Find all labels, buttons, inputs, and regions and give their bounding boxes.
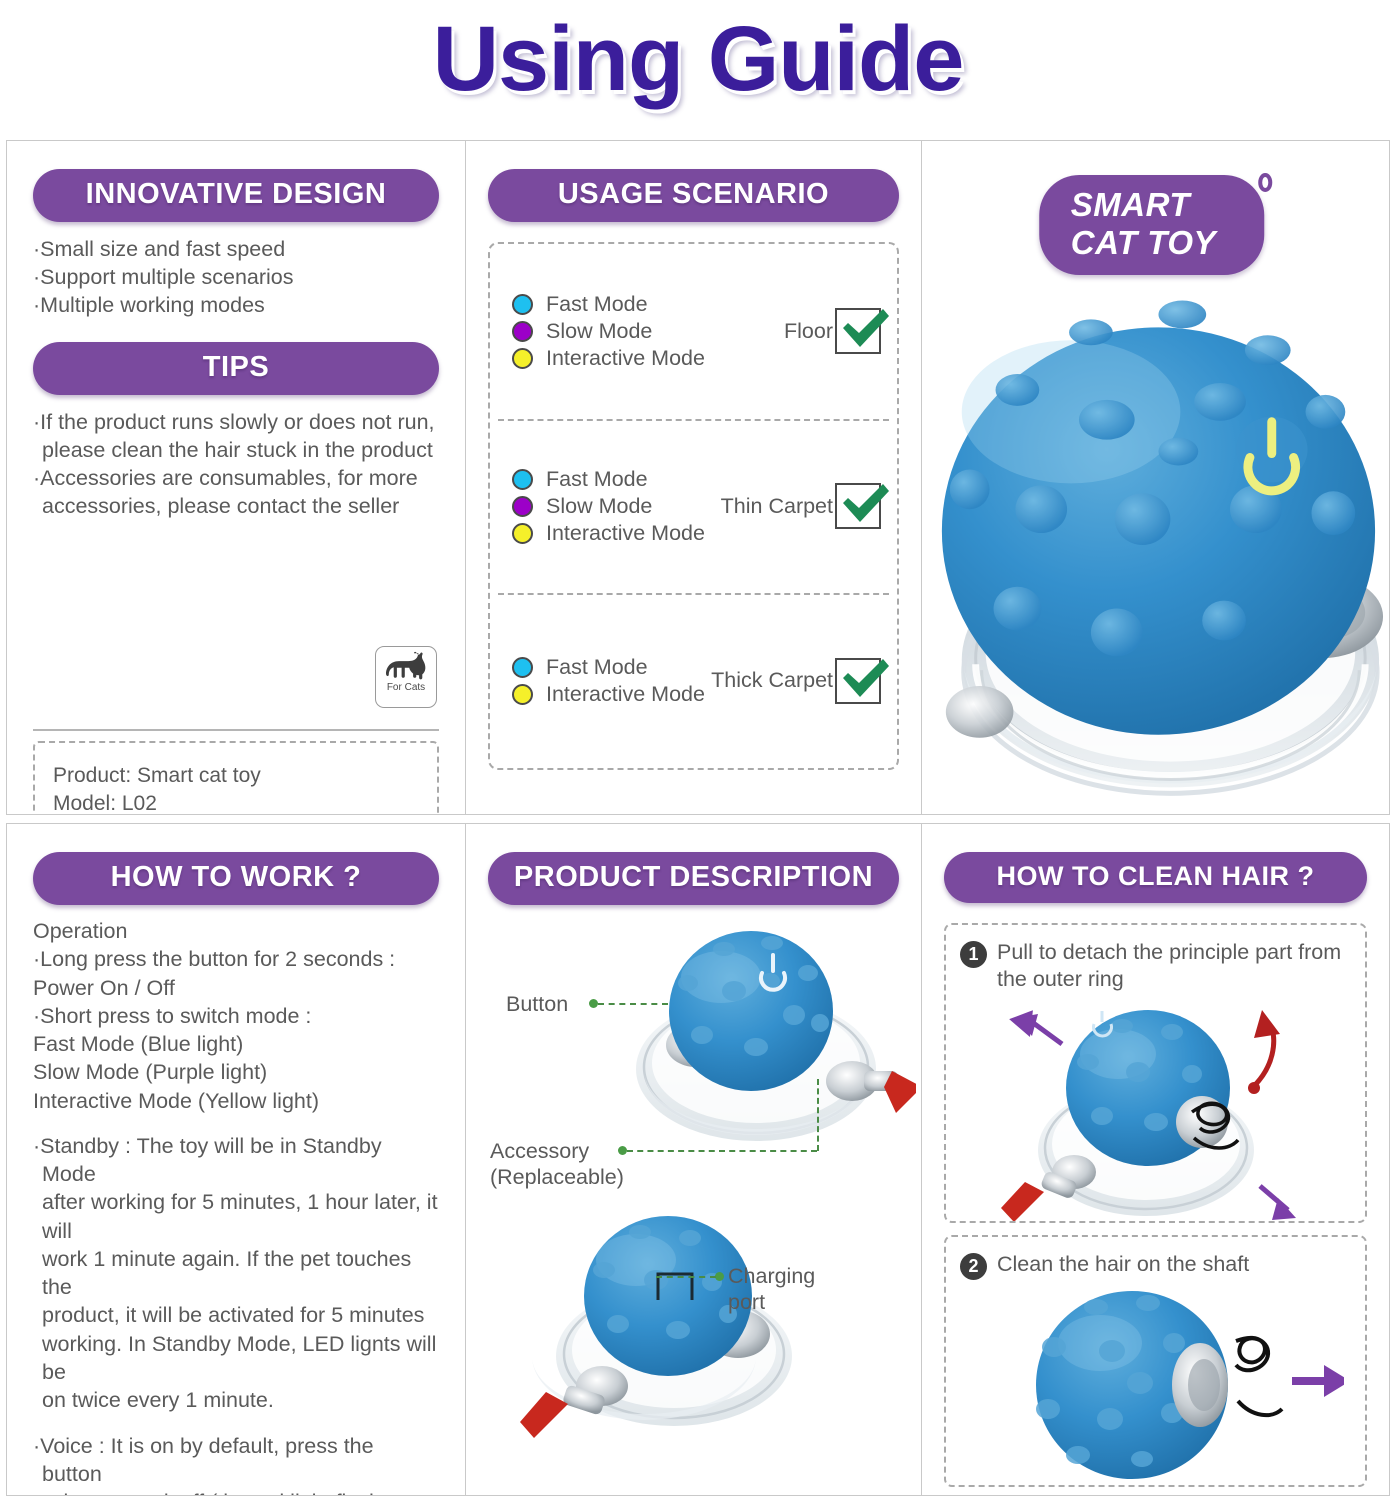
- guide-sheet: INNOVATIVE DESIGN ·Small size and fast s…: [0, 140, 1396, 1496]
- panel-usage-scenario: USAGE SCENARIO Fast Mode Slow Mode: [465, 141, 921, 814]
- mode-item: Fast Mode: [512, 655, 711, 680]
- panel-product-description: PRODUCT DESCRIPTION: [465, 824, 921, 1495]
- mode-dot-icon: [512, 684, 533, 705]
- panel-how-to-work: HOW TO WORK ? Operation ·Long press the …: [7, 824, 465, 1495]
- product-description-heading: PRODUCT DESCRIPTION: [488, 852, 899, 905]
- badge-label: SMART CAT TOY: [1039, 175, 1264, 275]
- check-icon: [835, 648, 893, 706]
- checkbox[interactable]: [835, 658, 881, 704]
- spec-product: Product: Smart cat toy: [53, 762, 419, 790]
- product-spec-box: Product: Smart cat toy Model: L02 Materi…: [33, 741, 439, 814]
- list-item: ·Accessories are consumables, for more: [33, 465, 439, 493]
- step-number: 2: [960, 1253, 987, 1280]
- list-item-cont: Power On / Off: [33, 974, 439, 1002]
- step-header: 1 Pull to detach the principle part from…: [946, 925, 1365, 993]
- mode-item: Interactive Mode: [512, 682, 711, 707]
- check-icon: [835, 298, 893, 356]
- spacer: [33, 1115, 439, 1132]
- power-button-icon: [1236, 417, 1308, 491]
- callout-accessory-label: Accessory (Replaceable): [490, 1139, 624, 1191]
- step-text-line1: Clean the hair on the shaft: [997, 1251, 1249, 1278]
- list-item: ·Small size and fast speed: [33, 236, 439, 264]
- list-item-cont: after working for 5 minutes, 1 hour late…: [33, 1188, 439, 1245]
- step-text-line2: the outer ring: [997, 966, 1341, 993]
- list-item-cont: Slow Mode (Purple light): [33, 1058, 439, 1086]
- panel-innovative-design: INNOVATIVE DESIGN ·Small size and fast s…: [7, 141, 465, 814]
- mode-label: Slow Mode: [546, 319, 652, 344]
- step-text: Pull to detach the principle part from t…: [997, 939, 1341, 993]
- step-text: Clean the hair on the shaft: [997, 1251, 1249, 1280]
- surface-label: Thin Carpet: [721, 494, 833, 519]
- callout-charging-line2: port: [728, 1290, 815, 1316]
- callout-accessory-dot-icon: [618, 1146, 627, 1155]
- list-item-cont: accessories, please contact the seller: [33, 493, 439, 521]
- clean-step-1: 1 Pull to detach the principle part from…: [944, 923, 1367, 1223]
- list-item-cont: please clean the hair stuck in the produ…: [33, 437, 439, 465]
- list-item-cont: twice to turn it off (the red light flas…: [33, 1488, 439, 1495]
- page-title: Using Guide: [0, 0, 1396, 140]
- list-item: Operation: [33, 917, 439, 945]
- checkbox[interactable]: [835, 308, 881, 354]
- step-header: 2 Clean the hair on the shaft: [946, 1237, 1365, 1280]
- step-text-line1: Pull to detach the principle part from: [997, 939, 1341, 966]
- top-row: INNOVATIVE DESIGN ·Small size and fast s…: [6, 140, 1390, 815]
- voice-paragraph: ·Voice : It is on by default, press the …: [33, 1432, 439, 1495]
- for-cats-label: For Cats: [387, 682, 425, 693]
- callout-charging-label: Charging port: [728, 1264, 815, 1316]
- innovative-design-heading: INNOVATIVE DESIGN: [33, 169, 439, 222]
- tips-heading: TIPS: [33, 342, 439, 395]
- product-figure-top: [616, 919, 916, 1169]
- mode-item: Interactive Mode: [512, 521, 721, 546]
- mode-dot-icon: [512, 523, 533, 544]
- mode-label: Slow Mode: [546, 494, 652, 519]
- check-icon: [835, 473, 893, 531]
- mode-list: Fast Mode Interactive Mode: [512, 653, 711, 709]
- smart-cat-toy-badge: SMART CAT TOY: [1039, 175, 1273, 275]
- surface-check: Floor: [784, 308, 881, 354]
- operation-list: Operation ·Long press the button for 2 s…: [33, 917, 439, 1115]
- usage-scenario-heading: USAGE SCENARIO: [488, 169, 899, 222]
- spec-model: Model: L02: [53, 790, 419, 814]
- callout-accessory-line1: Accessory: [490, 1139, 624, 1165]
- surface-label: Floor: [784, 319, 833, 344]
- mode-item: Interactive Mode: [512, 346, 784, 371]
- callout-charging-line1: Charging: [728, 1264, 815, 1290]
- surface-check: Thin Carpet: [721, 483, 881, 529]
- clean-step-2-figure: [1014, 1285, 1344, 1485]
- list-item: ·Multiple working modes: [33, 292, 439, 320]
- callout-button-leader: [598, 1003, 668, 1005]
- mode-label: Fast Mode: [546, 292, 648, 317]
- list-item: ·If the product runs slowly or does not …: [33, 409, 439, 437]
- checkbox[interactable]: [835, 483, 881, 529]
- mode-dot-icon: [512, 321, 533, 342]
- mode-label: Interactive Mode: [546, 682, 705, 707]
- list-item-cont: Interactive Mode (Yellow light): [33, 1087, 439, 1115]
- mode-dot-icon: [512, 496, 533, 517]
- step-number: 1: [960, 941, 987, 968]
- mode-dot-icon: [512, 294, 533, 315]
- scenario-row: Fast Mode Slow Mode Interactive Mode Thi…: [490, 419, 897, 594]
- callout-charging-leader: [656, 1276, 716, 1278]
- panel-clean-hair: HOW TO CLEAN HAIR ? 1 Pull to detach the…: [921, 824, 1389, 1495]
- callout-accessory-line2: (Replaceable): [490, 1165, 624, 1191]
- list-item: ·Standby : The toy will be in Standby Mo…: [33, 1132, 439, 1189]
- list-item-cont: working. In Standby Mode, LED lignts wil…: [33, 1330, 439, 1387]
- surface-check: Thick Carpet: [711, 658, 881, 704]
- standby-paragraph: ·Standby : The toy will be in Standby Mo…: [33, 1132, 439, 1415]
- mode-label: Fast Mode: [546, 655, 648, 680]
- list-item: ·Support multiple scenarios: [33, 264, 439, 292]
- mode-label: Interactive Mode: [546, 521, 705, 546]
- callout-button-label: Button: [506, 992, 568, 1018]
- innovative-design-list: ·Small size and fast speed ·Support mult…: [33, 236, 439, 320]
- mode-list: Fast Mode Slow Mode Interactive Mode: [512, 290, 784, 373]
- surface-label: Thick Carpet: [711, 668, 833, 693]
- smart-cat-toy-product-photo: [922, 261, 1389, 814]
- divider: [33, 729, 439, 731]
- callout-button-dot-icon: [589, 999, 598, 1008]
- scenario-row: Fast Mode Slow Mode Interactive Mode Flo…: [490, 244, 897, 419]
- scenario-list: Fast Mode Slow Mode Interactive Mode Flo…: [488, 242, 899, 770]
- mode-label: Fast Mode: [546, 467, 648, 492]
- list-item: ·Long press the button for 2 seconds :: [33, 945, 439, 973]
- callout-charging-dot-icon: [715, 1272, 724, 1281]
- spacer: [33, 1415, 439, 1432]
- product-figure-bottom: [506, 1204, 806, 1454]
- mode-item: Fast Mode: [512, 467, 721, 492]
- mode-dot-icon: [512, 469, 533, 490]
- bottom-row: HOW TO WORK ? Operation ·Long press the …: [6, 823, 1390, 1496]
- badge-dot-icon: [1258, 173, 1272, 192]
- for-cats-badge: For Cats: [375, 646, 437, 708]
- list-item-cont: work 1 minute again. If the pet touches …: [33, 1245, 439, 1302]
- mode-item: Slow Mode: [512, 494, 721, 519]
- mode-item: Slow Mode: [512, 319, 784, 344]
- scenario-row: Fast Mode Interactive Mode Thick Carpet: [490, 593, 897, 768]
- list-item-cont: product, it will be activated for 5 minu…: [33, 1301, 439, 1329]
- list-item-cont: on twice every 1 minute.: [33, 1386, 439, 1414]
- cat-icon: [385, 651, 427, 681]
- mode-label: Interactive Mode: [546, 346, 705, 371]
- mode-dot-icon: [512, 348, 533, 369]
- list-item-cont: Fast Mode (Blue light): [33, 1030, 439, 1058]
- mode-item: Fast Mode: [512, 292, 784, 317]
- mode-dot-icon: [512, 657, 533, 678]
- list-item: ·Voice : It is on by default, press the …: [33, 1432, 439, 1489]
- tips-list: ·If the product runs slowly or does not …: [33, 409, 439, 521]
- callout-accessory-leader: [627, 1150, 817, 1152]
- panel-hero: SMART CAT TOY: [921, 141, 1389, 814]
- mode-list: Fast Mode Slow Mode Interactive Mode: [512, 465, 721, 548]
- callout-accessory-leader-vert: [817, 1079, 819, 1151]
- clean-hair-heading: HOW TO CLEAN HAIR ?: [944, 852, 1367, 903]
- list-item: ·Short press to switch mode :: [33, 1002, 439, 1030]
- clean-step-2: 2 Clean the hair on the shaft: [944, 1235, 1367, 1487]
- how-to-work-heading: HOW TO WORK ?: [33, 852, 439, 905]
- clean-step-1-figure: [996, 1000, 1316, 1223]
